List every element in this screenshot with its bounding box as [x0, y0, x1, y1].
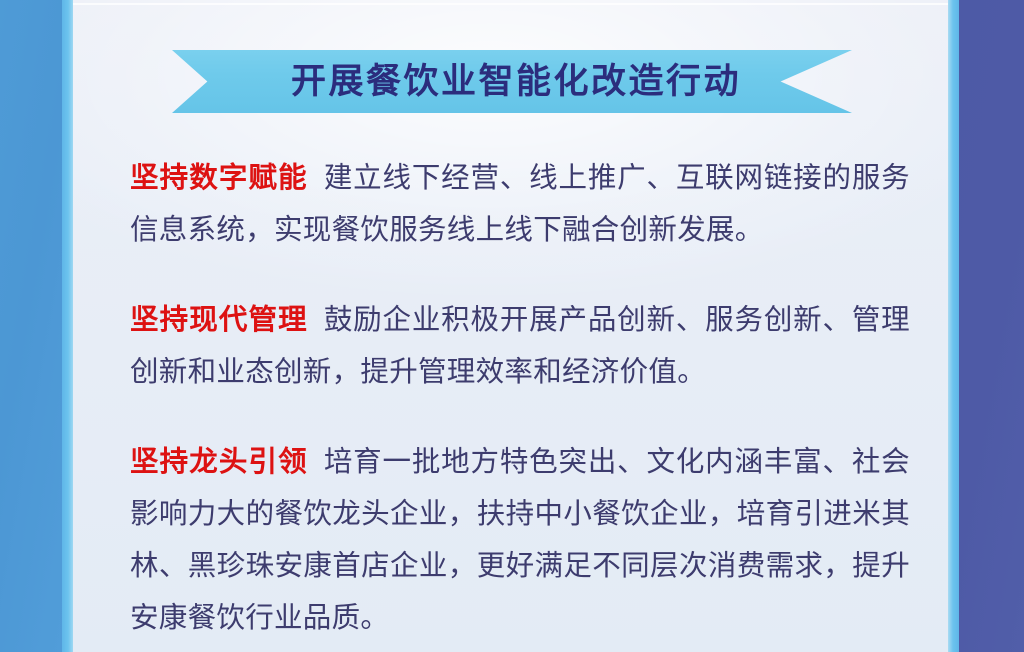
ribbon-banner: 开展餐饮业智能化改造行动 [172, 50, 852, 113]
paragraph-item: 坚持数字赋能建立线下经营、线上推广、互联网链接的服务信息系统，实现餐饮服务线上线… [130, 152, 910, 256]
paragraph-lead-label: 坚持现代管理 [130, 304, 308, 336]
right-decorative-band [959, 0, 1024, 652]
paragraph-list: 坚持数字赋能建立线下经营、线上推广、互联网链接的服务信息系统，实现餐饮服务线上线… [130, 152, 910, 644]
paragraph-item: 坚持现代管理鼓励企业积极开展产品创新、服务创新、管理创新和业态创新，提升管理效率… [130, 294, 910, 398]
paragraph-lead-label: 坚持龙头引领 [130, 446, 308, 478]
card-top-highlight-line [73, 3, 948, 5]
poster-canvas: 开展餐饮业智能化改造行动 坚持数字赋能建立线下经营、线上推广、互联网链接的服务信… [0, 0, 1024, 652]
content-card: 开展餐饮业智能化改造行动 坚持数字赋能建立线下经营、线上推广、互联网链接的服务信… [73, 0, 948, 652]
left-decorative-band [0, 0, 62, 652]
left-accent-strip [62, 0, 73, 652]
paragraph-lead-label: 坚持数字赋能 [130, 162, 308, 194]
right-accent-strip [948, 0, 959, 652]
poster-title: 开展餐饮业智能化改造行动 [283, 64, 741, 99]
paragraph-item: 坚持龙头引领培育一批地方特色突出、文化内涵丰富、社会影响力大的餐饮龙头企业，扶持… [130, 436, 910, 644]
